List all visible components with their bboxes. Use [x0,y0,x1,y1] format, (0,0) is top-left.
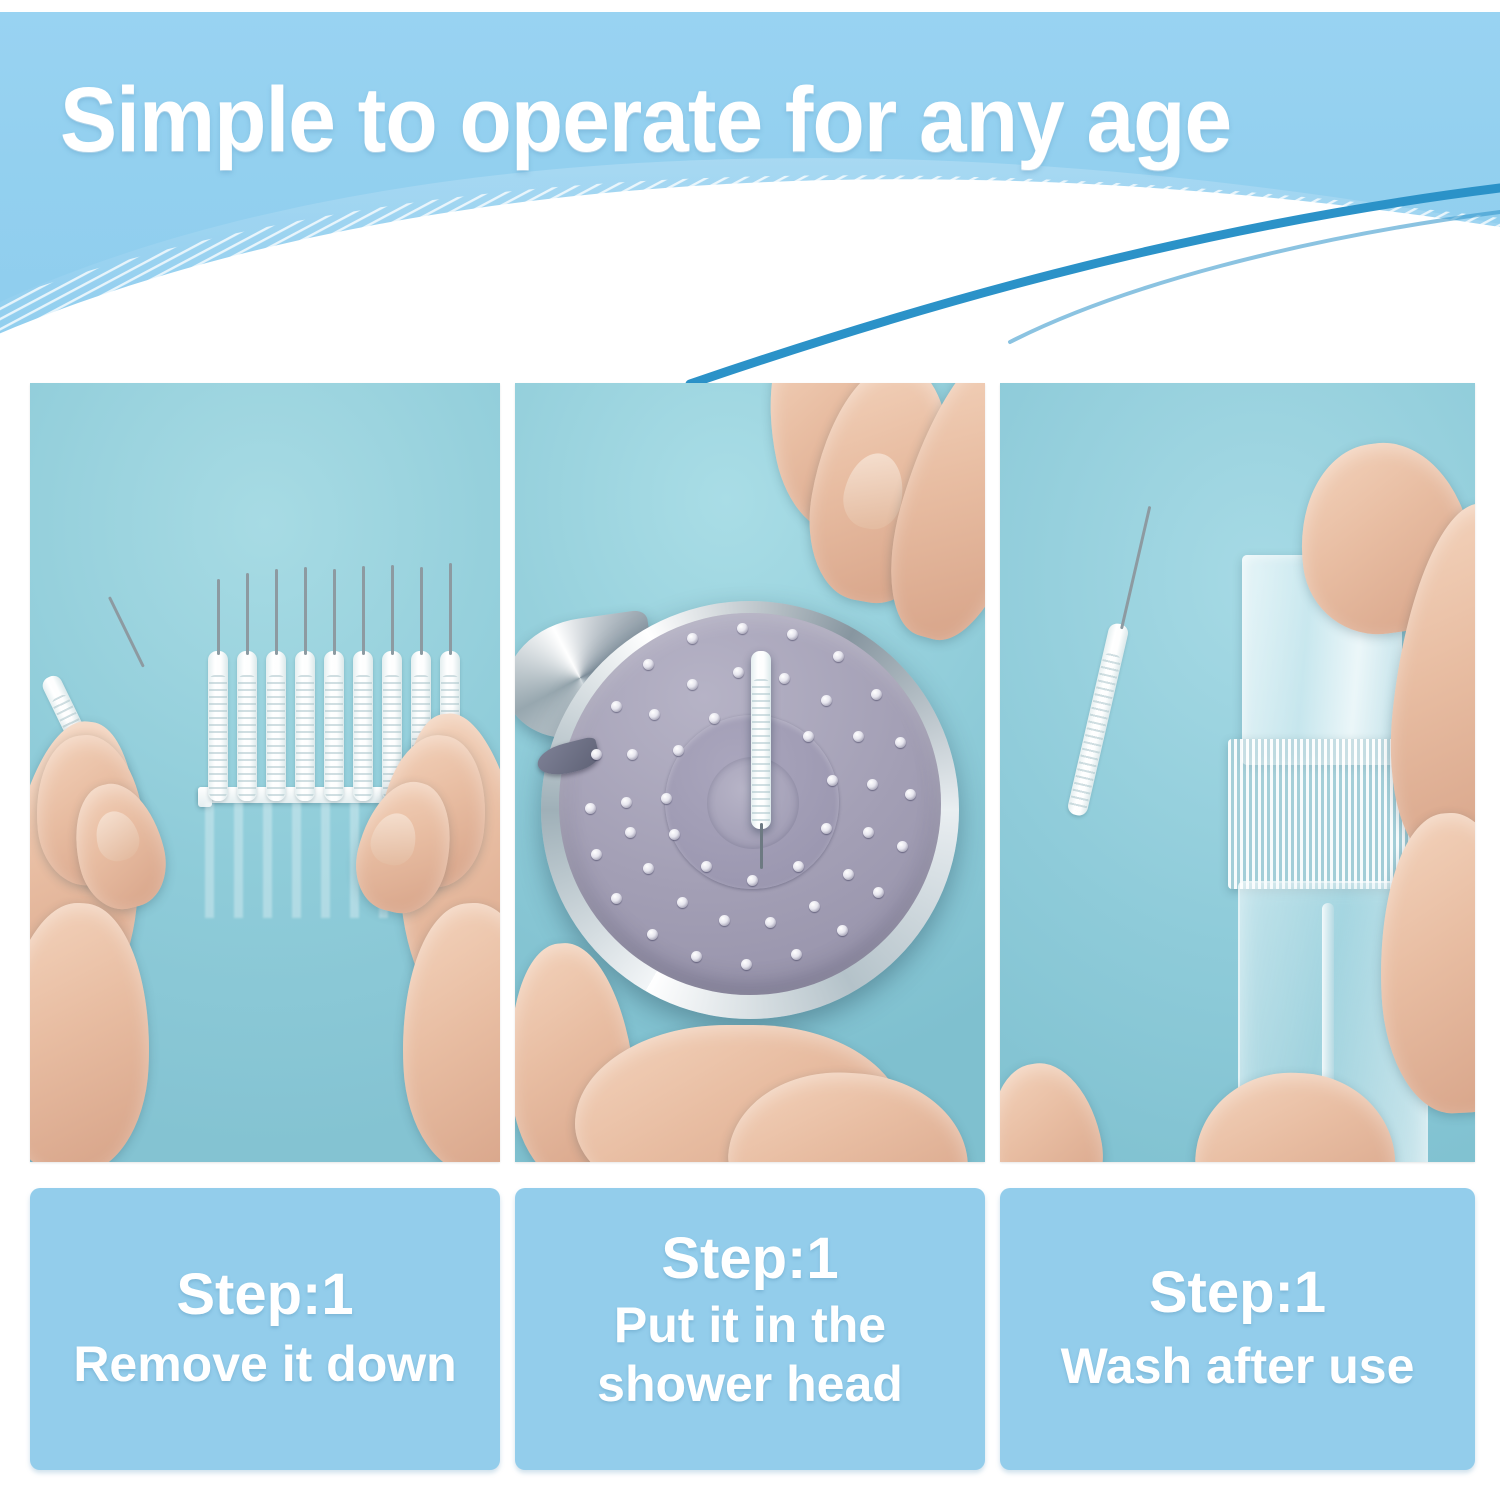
brush-bristles [752,679,770,825]
brush [324,651,344,801]
step-1-photo [30,383,500,1162]
header-banner: Simple to operate for any age [0,12,1500,384]
brush-wire [246,573,249,655]
brush-wire [391,565,394,655]
brush [237,651,257,801]
brush [208,651,228,801]
step-3-label: Step:1 [1149,1262,1326,1325]
step-2-caption: Step:1 Put it in the shower head [515,1188,985,1470]
wave-decoration-graphic [0,12,1500,384]
brush-wire [449,563,452,655]
brush-bristles [209,675,227,798]
brush-bristles [354,675,372,798]
infographic-page: Simple to operate for any age [0,0,1500,1500]
brush [266,651,286,801]
brush [295,651,315,801]
step-1-caption: Step:1 Remove it down [30,1188,500,1470]
step-3-description-line-1: Wash after use [1061,1337,1415,1396]
step-3-photo [1000,383,1475,1162]
step-photo-row [0,383,1500,1162]
brush-wire [333,569,336,655]
brush-wire [275,569,278,655]
step-2-photo [515,383,985,1162]
brush-bristles [296,675,314,798]
brush-bristles [238,675,256,798]
inserted-brush [751,651,771,829]
brush-bristles [325,675,343,798]
step-3-caption: Step:1 Wash after use [1000,1188,1475,1470]
step-caption-row: Step:1 Remove it down Step:1 Put it in t… [0,1188,1500,1470]
page-title: Simple to operate for any age [60,74,1362,166]
step-1-label: Step:1 [176,1264,353,1327]
step-2-description-line-1: Put it in the [614,1296,886,1355]
brush-bristles [267,675,285,798]
brush-wire [304,567,307,655]
step-2-description-line-2: shower head [597,1355,903,1414]
brush-wire [420,567,423,655]
brush-wire [217,579,220,655]
step-2-label: Step:1 [661,1228,838,1291]
step-1-description-line-1: Remove it down [73,1335,456,1394]
inserted-brush-wire [760,823,763,869]
brush-wire [362,566,365,655]
brush [353,651,373,801]
